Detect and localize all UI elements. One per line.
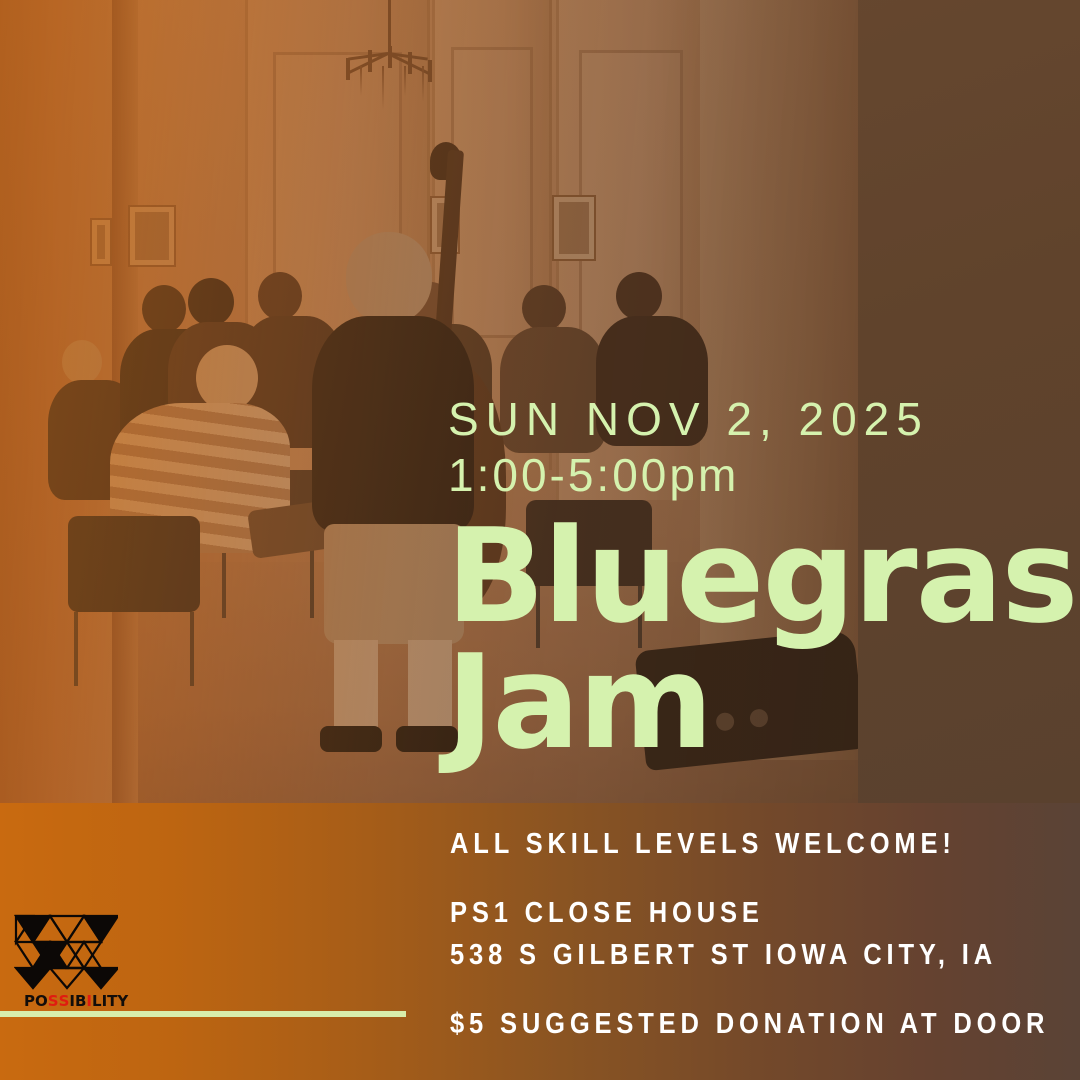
skill-level-note: ALL SKILL LEVELS WELCOME! <box>450 828 956 861</box>
triangle-lattice-icon <box>14 912 118 990</box>
donation-note: $5 SUGGESTED DONATION AT DOOR <box>450 1008 1049 1041</box>
event-date: SUN NOV 2, 2025 <box>448 396 929 442</box>
title-line-2: Jam <box>446 641 1080 763</box>
venue-name: PS1 CLOSE HOUSE <box>450 897 764 930</box>
logo-wordmark: POSSIBILITY <box>24 992 128 1010</box>
event-poster: SUN NOV 2, 2025 1:00-5:00pm Bluegrass Ja… <box>0 0 1080 1080</box>
venue-address: 538 S GILBERT ST IOWA CITY, IA <box>450 939 997 972</box>
title-line-1: Bluegrass <box>446 515 1080 637</box>
poster-title: Bluegrass Jam <box>446 515 1080 763</box>
organization-logo: POSSIBILITY <box>14 912 118 1012</box>
event-date-block: SUN NOV 2, 2025 1:00-5:00pm <box>448 396 929 498</box>
event-time: 1:00-5:00pm <box>448 452 929 498</box>
